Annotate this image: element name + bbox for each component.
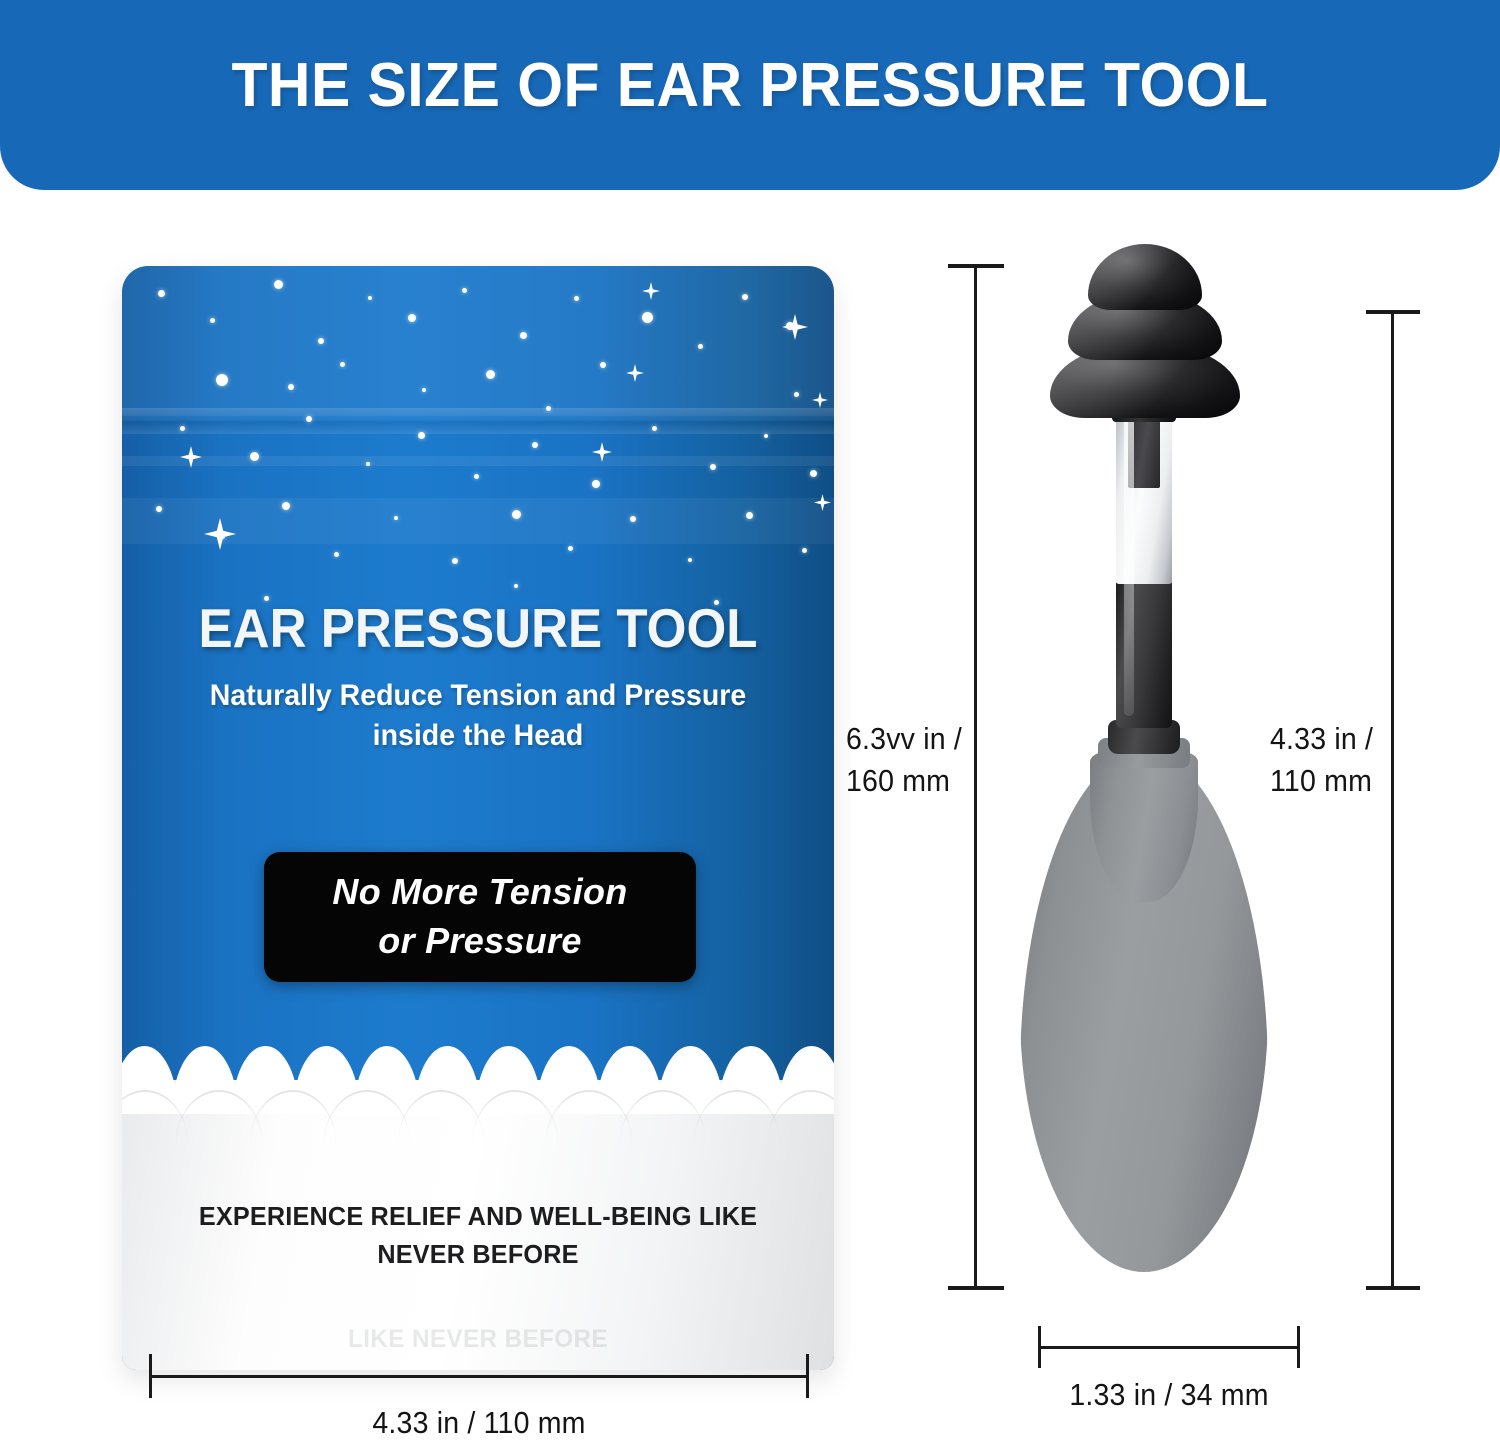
- product-package: EAR PRESSURE TOOL Naturally Reduce Tensi…: [122, 266, 834, 1370]
- page-title: THE SIZE OF EAR PRESSURE TOOL: [38, 50, 1463, 121]
- package-callout-box: No More Tension or Pressure: [264, 852, 696, 982]
- tool-height-line: [1391, 310, 1394, 1290]
- tool-width-label: 1.33 in / 34 mm: [1021, 1374, 1317, 1416]
- package-ghost-text: LIKE NEVER BEFORE: [168, 1325, 789, 1354]
- infographic-canvas: THE SIZE OF EAR PRESSURE TOOL: [0, 0, 1500, 1444]
- package-height-line: [974, 264, 977, 1290]
- tool-shaft-highlight: [1124, 416, 1134, 716]
- package-title: EAR PRESSURE TOOL: [147, 596, 809, 660]
- package-subtitle: Naturally Reduce Tension and Pressure in…: [206, 676, 749, 755]
- pouch-zipper-seal: [122, 408, 834, 434]
- tool-width-right-cap: [1297, 1326, 1300, 1368]
- package-width-right-cap: [806, 1354, 809, 1398]
- package-height-label: 6.3vv in / 160 mm: [846, 718, 962, 802]
- ear-pressure-tool: [1012, 300, 1312, 1300]
- pouch-sheen-band: [122, 498, 834, 544]
- pouch-sheen-band: [122, 266, 834, 416]
- tool-height-label: 4.33 in / 110 mm: [1270, 718, 1373, 802]
- pouch-seal-line: [122, 456, 834, 466]
- tool-height-bottom-cap: [1366, 1286, 1420, 1290]
- callout-line-1: No More Tension: [332, 868, 627, 917]
- callout-line-2: or Pressure: [378, 917, 581, 966]
- header-banner: THE SIZE OF EAR PRESSURE TOOL: [0, 0, 1500, 190]
- tool-width-line: [1038, 1346, 1300, 1349]
- package-width-label: 4.33 in / 110 mm: [38, 1402, 919, 1444]
- package-width-line: [149, 1375, 808, 1378]
- tool-ear-tip-flange-1: [1088, 244, 1202, 310]
- package-bottom-panel: EXPERIENCE RELIEF AND WELL-BEING LIKE NE…: [122, 1080, 834, 1370]
- scallop-edge-shadow: [122, 1090, 834, 1144]
- package-footer-text: EXPERIENCE RELIEF AND WELL-BEING LIKE NE…: [168, 1198, 789, 1273]
- package-height-bottom-cap: [948, 1286, 1004, 1290]
